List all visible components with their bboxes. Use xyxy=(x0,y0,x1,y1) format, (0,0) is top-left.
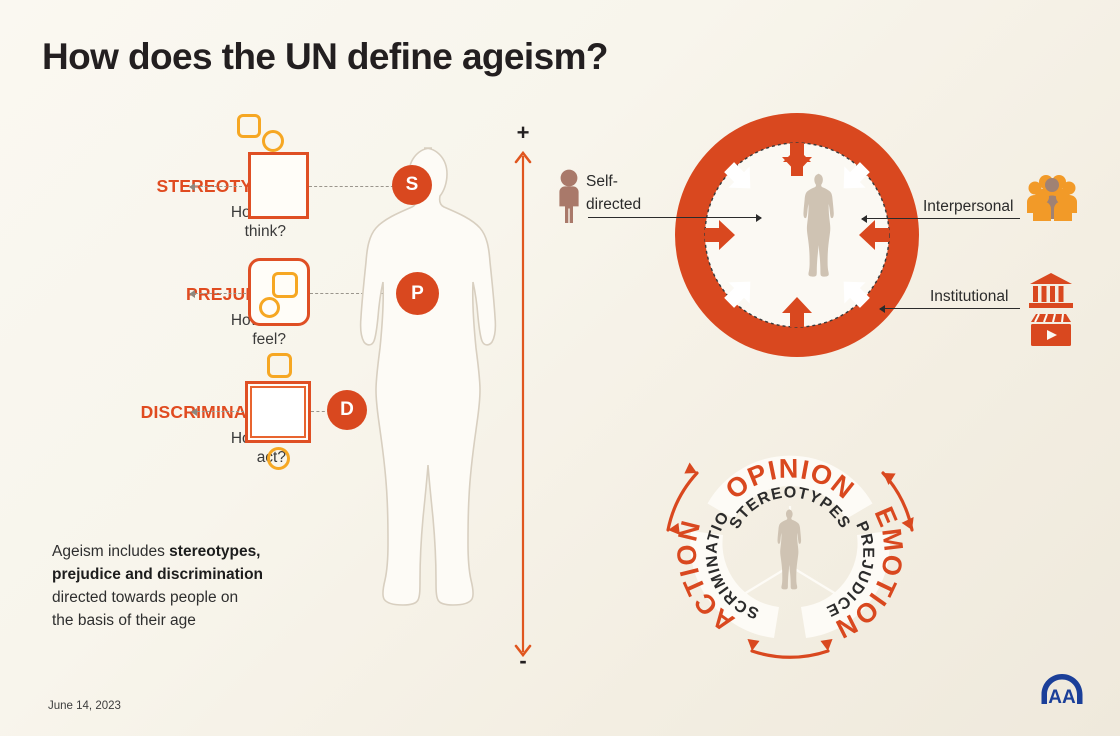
group-of-people-icon xyxy=(1026,172,1078,224)
media-shop-icon xyxy=(1029,313,1073,347)
interpersonal-connector xyxy=(862,218,1020,219)
person-icon xyxy=(556,168,582,224)
ring-with-inward-arrows xyxy=(672,110,922,360)
institutional-label: Institutional xyxy=(930,288,1008,306)
discrimination-rounded-square-icon xyxy=(267,353,292,378)
cycle-arrow-bottom xyxy=(752,651,828,657)
connector-stereotypes-left xyxy=(190,186,242,187)
self-directed-label-line1: Self- xyxy=(586,173,618,191)
connector-discrimination-left xyxy=(192,411,244,412)
stereotypes-rounded-square-icon xyxy=(237,114,261,138)
interpersonal-label: Interpersonal xyxy=(923,198,1013,216)
page-title: How does the UN define ageism? xyxy=(42,36,608,78)
blurb-bold-1: stereotypes, xyxy=(169,543,260,560)
discrimination-inner-square-icon xyxy=(250,386,306,438)
publication-date: June 14, 2023 xyxy=(48,700,121,712)
question-line: feel? xyxy=(46,330,286,349)
prejudice-inner-rounded-square-icon xyxy=(272,272,298,298)
question-line: think? xyxy=(46,222,286,241)
bank-building-icon xyxy=(1028,272,1074,310)
stereotypes-square-icon xyxy=(248,152,309,219)
self-directed-connector xyxy=(588,217,761,218)
question-line: act? xyxy=(46,448,286,467)
summary-paragraph: Ageism includes stereotypes, prejudice a… xyxy=(52,540,322,632)
cycle-svg: OPINION STEREOTYPES EMOTION PREJUDICE AC… xyxy=(640,398,940,680)
aa-logo: AA xyxy=(1038,672,1086,711)
axis-double-arrow-icon xyxy=(512,144,534,664)
svg-text:AA: AA xyxy=(1048,687,1076,706)
ageism-levels-diagram xyxy=(672,110,922,365)
blurb-plain-1: Ageism includes xyxy=(52,543,169,560)
connector-prejudice-left xyxy=(190,293,246,294)
blurb-plain-2: directed towards people on xyxy=(52,589,238,606)
self-directed-label-line2: directed xyxy=(586,196,641,214)
blurb-plain-3: the basis of their age xyxy=(52,612,196,629)
stereotypes-circle-icon xyxy=(262,130,284,152)
badge-prejudice: P xyxy=(396,272,439,315)
human-body-diagram: S P D xyxy=(332,140,532,675)
infographic-canvas: How does the UN define ageism? STEREOTYP… xyxy=(0,0,1120,736)
human-silhouette-icon xyxy=(778,509,802,589)
axis-plus-sign: + xyxy=(513,120,533,146)
ageism-cycle-diagram: OPINION STEREOTYPES EMOTION PREJUDICE AC… xyxy=(640,398,940,685)
badge-discrimination: D xyxy=(327,390,367,430)
blurb-bold-2: prejudice and discrimination xyxy=(52,566,263,583)
badge-stereotypes: S xyxy=(392,165,432,205)
prejudice-inner-circle-icon xyxy=(259,297,280,318)
institutional-connector xyxy=(880,308,1020,309)
discrimination-circle-icon xyxy=(267,447,290,470)
aa-logo-icon: AA xyxy=(1038,672,1086,706)
